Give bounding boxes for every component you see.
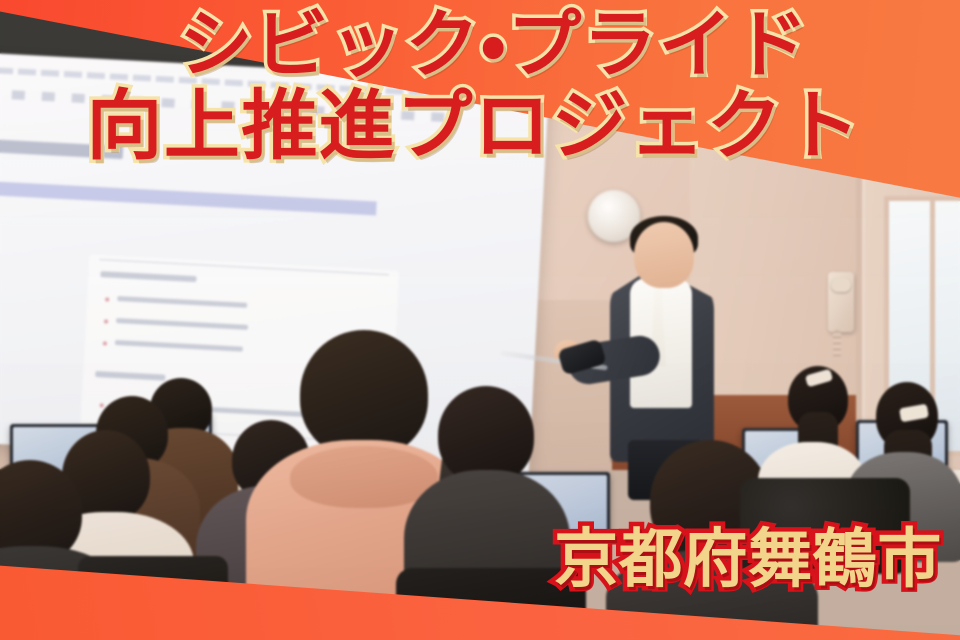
chair-center [396,568,586,640]
chair-right [740,478,910,574]
slide-heading [0,138,123,159]
slide-accent-band [0,180,377,216]
chair-left [78,556,228,640]
poster-canvas: シビック・プライド 向上推進プロジェクト 京都府舞鶴市 [0,0,960,640]
phone-cord [833,330,841,358]
hoodie-hood [290,446,438,508]
classroom-photo [0,0,960,640]
wall-phone[interactable] [828,272,854,332]
browser-url-bar [0,67,425,95]
